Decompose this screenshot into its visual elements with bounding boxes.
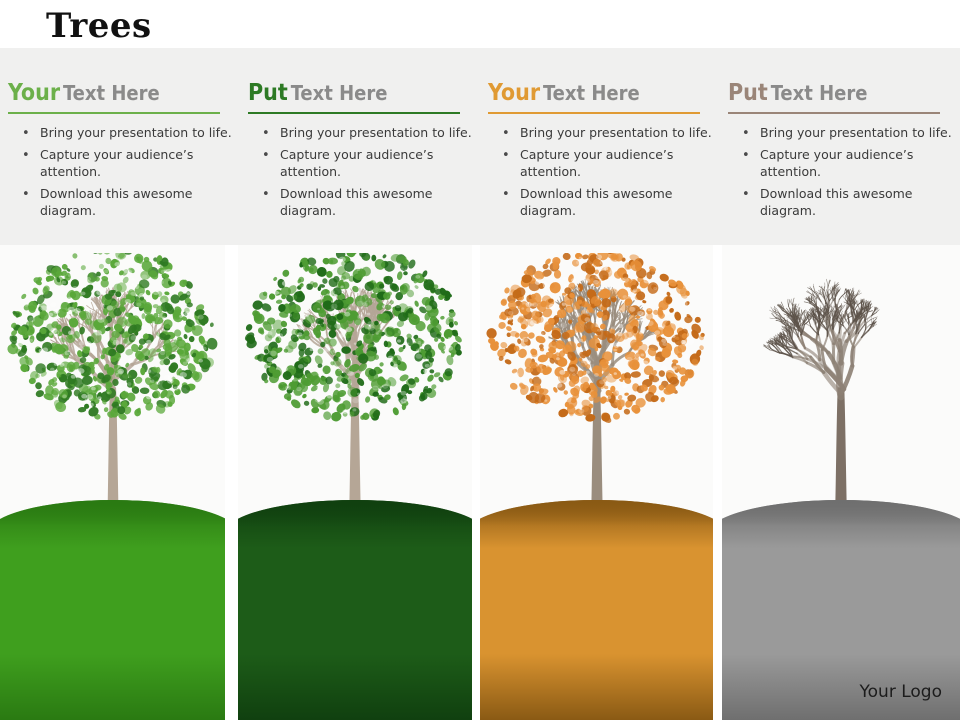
bullet-text: Download this awesome diagram. [760,186,913,218]
list-item: •Capture your audience’s attention. [248,146,476,180]
title-bar: Trees [0,0,960,48]
column-heading-4: PutText Here [728,80,956,110]
logo-placeholder[interactable]: Your Logo [860,682,942,702]
grass-texture [238,500,472,720]
bullet-dot-icon: • [742,147,750,164]
heading-gray-word: Text Here [771,81,868,105]
list-item: •Capture your audience’s attention. [488,146,716,180]
heading-underline-4 [728,112,940,114]
bullet-list-1: •Bring your presentation to life. •Captu… [8,124,236,219]
bullet-text: Bring your presentation to life. [280,125,472,140]
bullet-dot-icon: • [262,147,270,164]
heading-underline-2 [248,112,460,114]
text-column-4: PutText Here •Bring your presentation to… [728,48,956,224]
list-item: •Bring your presentation to life. [8,124,236,141]
bullet-text: Bring your presentation to life. [520,125,712,140]
text-column-1: YourText Here •Bring your presentation t… [8,48,236,224]
list-item: •Download this awesome diagram. [248,185,476,219]
column-heading-3: YourText Here [488,80,716,110]
bullet-text: Download this awesome diagram. [280,186,433,218]
text-band: YourText Here •Bring your presentation t… [0,48,960,245]
list-item: •Download this awesome diagram. [488,185,716,219]
heading-underline-3 [488,112,700,114]
tree-panel-2[interactable] [238,245,472,720]
bullet-dot-icon: • [502,125,510,142]
heading-gray-word: Text Here [63,81,160,105]
bullet-text: Capture your audience’s attention. [280,147,433,179]
bullet-dot-icon: • [262,186,270,203]
list-item: •Bring your presentation to life. [488,124,716,141]
list-item: •Capture your audience’s attention. [728,146,956,180]
bullet-dot-icon: • [742,125,750,142]
panel-strip: Your Logo [0,245,960,720]
ground-1 [0,500,225,720]
column-heading-2: PutText Here [248,80,476,110]
heading-gray-word: Text Here [543,81,640,105]
grass-texture [0,500,225,720]
tree-panel-1[interactable] [0,245,225,720]
column-heading-1: YourText Here [8,80,236,110]
bullet-dot-icon: • [22,186,30,203]
bullet-list-4: •Bring your presentation to life. •Captu… [728,124,956,219]
bullet-list-2: •Bring your presentation to life. •Captu… [248,124,476,219]
heading-accent-word: Put [248,80,288,106]
heading-accent-word: Put [728,80,768,106]
bullet-text: Capture your audience’s attention. [520,147,673,179]
bullet-text: Bring your presentation to life. [760,125,952,140]
heading-gray-word: Text Here [291,81,388,105]
text-column-2: PutText Here •Bring your presentation to… [248,48,476,224]
bullet-list-3: •Bring your presentation to life. •Captu… [488,124,716,219]
bullet-text: Download this awesome diagram. [520,186,673,218]
bullet-text: Download this awesome diagram. [40,186,193,218]
list-item: •Capture your audience’s attention. [8,146,236,180]
bullet-dot-icon: • [262,125,270,142]
heading-accent-word: Your [488,80,540,106]
list-item: •Download this awesome diagram. [728,185,956,219]
list-item: •Bring your presentation to life. [248,124,476,141]
grass-texture [480,500,713,720]
bullet-dot-icon: • [22,125,30,142]
bullet-dot-icon: • [502,147,510,164]
text-column-3: YourText Here •Bring your presentation t… [488,48,716,224]
bullet-dot-icon: • [22,147,30,164]
bullet-text: Bring your presentation to life. [40,125,232,140]
heading-underline-1 [8,112,220,114]
tree-panel-3[interactable] [480,245,713,720]
slide: Trees YourText Here •Bring your presenta… [0,0,960,720]
bullet-text: Capture your audience’s attention. [760,147,913,179]
bullet-dot-icon: • [742,186,750,203]
list-item: •Bring your presentation to life. [728,124,956,141]
bullet-text: Capture your audience’s attention. [40,147,193,179]
heading-accent-word: Your [8,80,60,106]
page-title: Trees [46,6,152,46]
ground-2 [238,500,472,720]
list-item: •Download this awesome diagram. [8,185,236,219]
tree-panel-4[interactable]: Your Logo [722,245,960,720]
ground-3 [480,500,713,720]
bullet-dot-icon: • [502,186,510,203]
